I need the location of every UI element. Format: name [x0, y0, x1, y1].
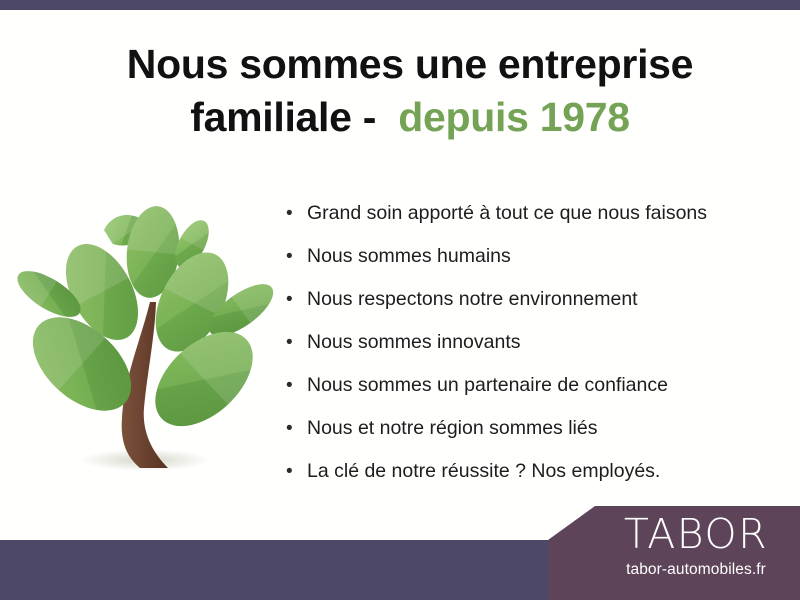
bullet-text: Nous et notre région sommes liés [307, 407, 597, 450]
bullet-text: Nous sommes un partenaire de confiance [307, 364, 668, 407]
list-item: • La clé de notre réussite ? Nos employé… [286, 450, 776, 493]
bullet-marker-icon: • [286, 321, 307, 364]
top-accent-bar [0, 0, 800, 10]
list-item: • Nous sommes innovants [286, 321, 776, 364]
headline-accent-since-year: depuis 1978 [398, 94, 629, 140]
brand-wordmark: TABOR [600, 514, 792, 555]
value-bullet-list: • Grand soin apporté à tout ce que nous … [286, 192, 776, 493]
slide-canvas: Nous sommes une entreprise familiale - d… [0, 0, 800, 600]
list-item: • Grand soin apporté à tout ce que nous … [286, 192, 776, 235]
list-item: • Nous sommes humains [286, 235, 776, 278]
brand-website-tagline: tabor-automobiles.fr [600, 562, 792, 578]
bullet-marker-icon: • [286, 278, 307, 321]
bullet-text: Grand soin apporté à tout ce que nous fa… [307, 192, 707, 235]
bullet-text: La clé de notre réussite ? Nos employés. [307, 450, 660, 493]
slide-headline: Nous sommes une entreprise familiale - d… [60, 38, 760, 144]
bullet-text: Nous respectons notre environnement [307, 278, 638, 321]
bullet-marker-icon: • [286, 407, 307, 450]
tree-illustration [12, 182, 278, 488]
bullet-marker-icon: • [286, 235, 307, 278]
bullet-text: Nous sommes innovants [307, 321, 521, 364]
bullet-marker-icon: • [286, 450, 307, 493]
list-item: • Nous et notre région sommes liés [286, 407, 776, 450]
headline-line-2: familiale - depuis 1978 [60, 91, 760, 144]
bullet-marker-icon: • [286, 364, 307, 407]
headline-line-2-plain: familiale - [190, 94, 376, 140]
bullet-text: Nous sommes humains [307, 235, 511, 278]
tree-icon [12, 182, 278, 488]
brand-logo-panel: TABOR tabor-automobiles.fr [548, 506, 800, 600]
list-item: • Nous sommes un partenaire de confiance [286, 364, 776, 407]
headline-line-1: Nous sommes une entreprise [60, 38, 760, 91]
list-item: • Nous respectons notre environnement [286, 278, 776, 321]
bullet-marker-icon: • [286, 192, 307, 235]
